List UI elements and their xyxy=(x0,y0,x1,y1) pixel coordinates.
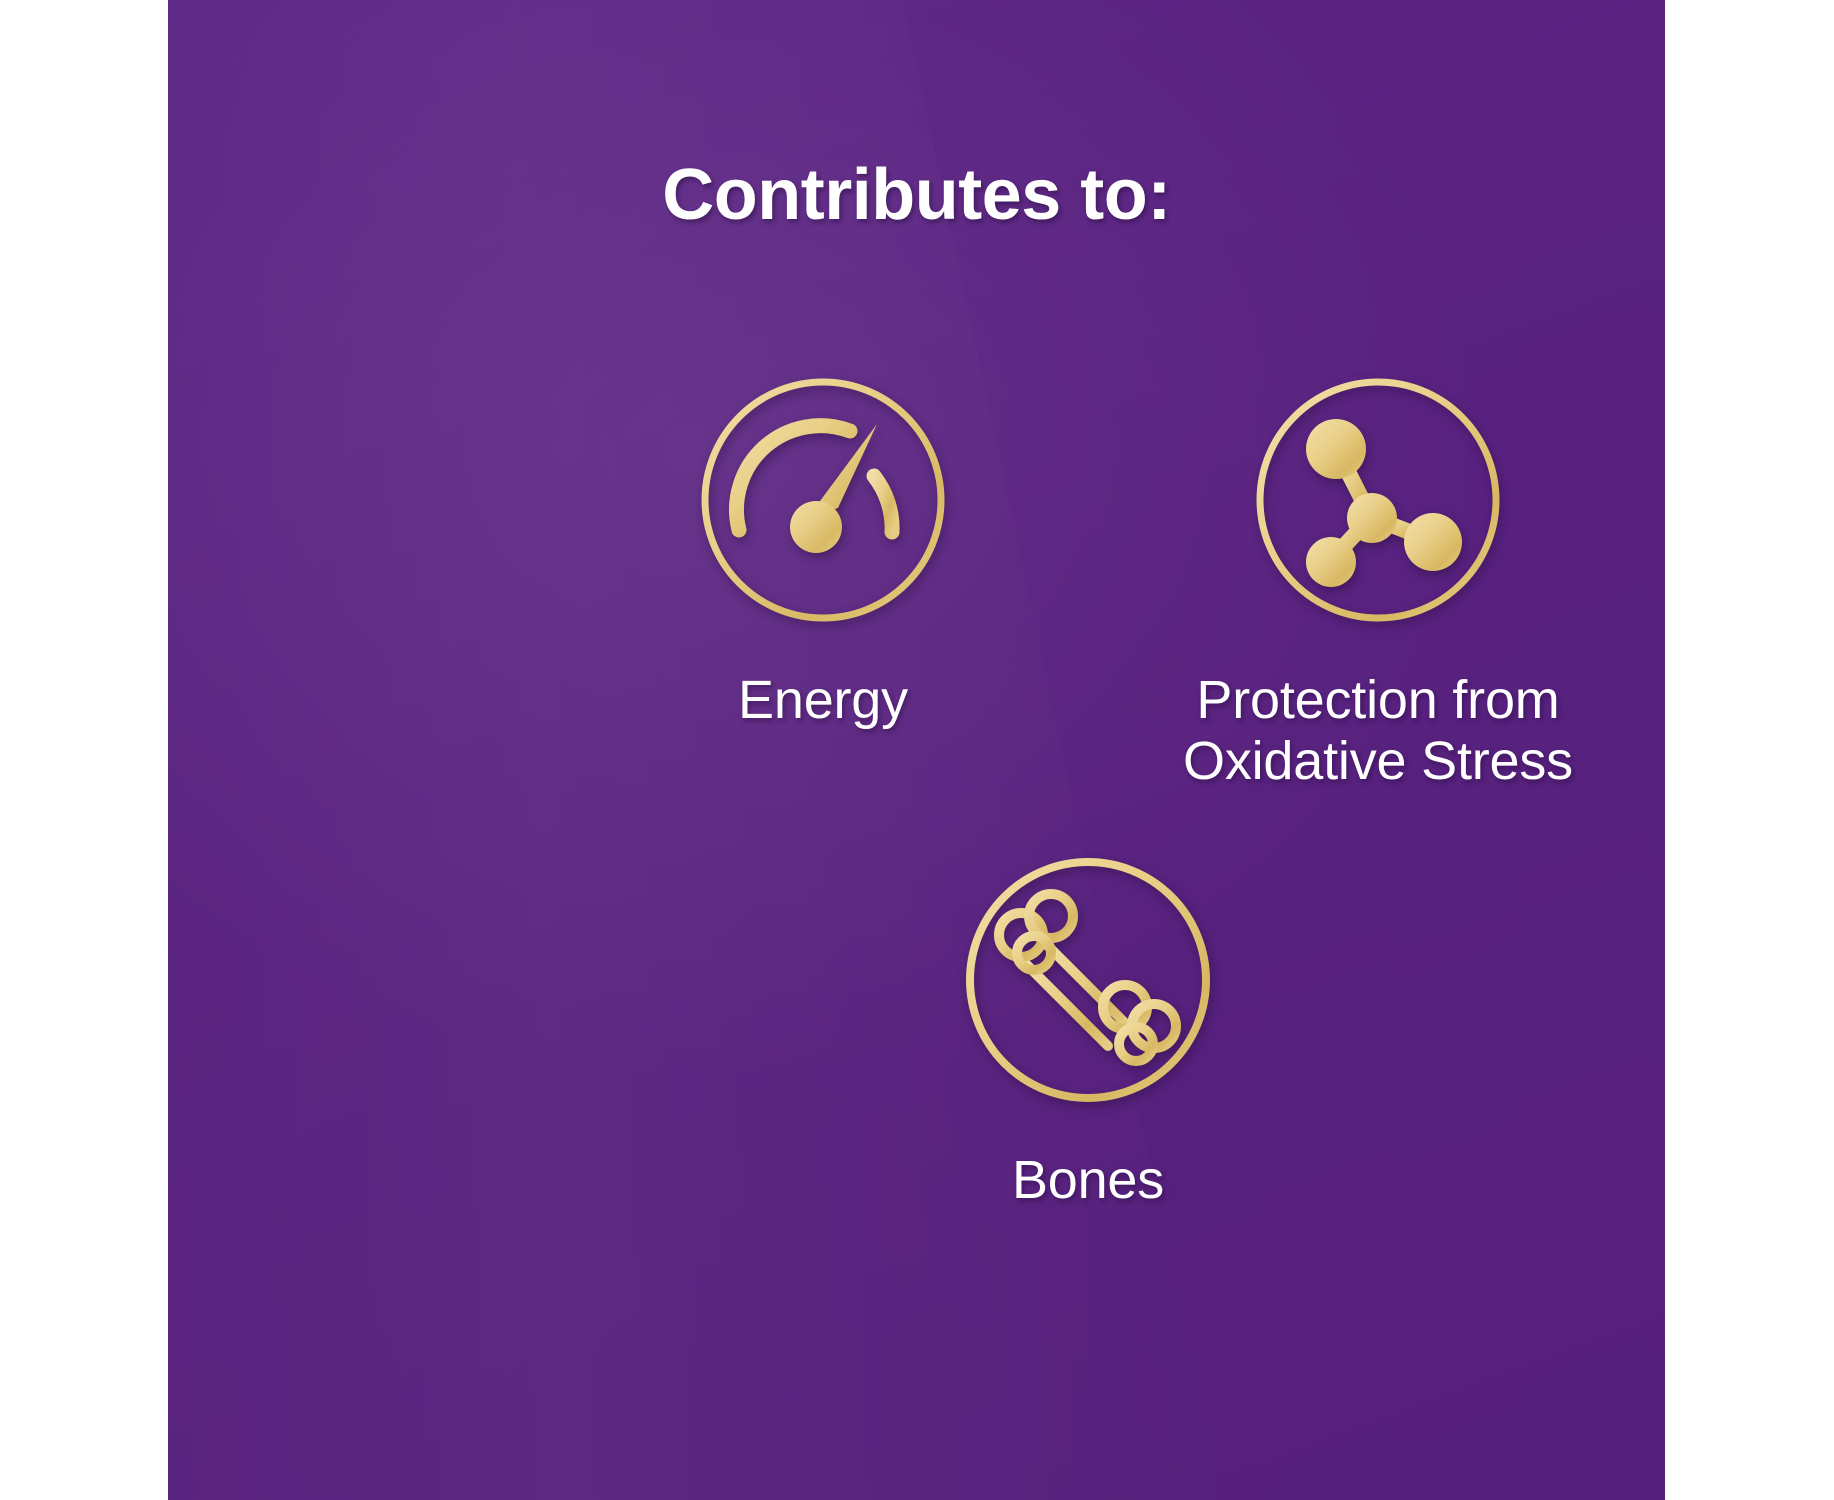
purple-panel: Contributes to: xyxy=(168,0,1665,1500)
benefit-label-bones: Bones xyxy=(863,1150,1313,1211)
speedometer-gauge-icon xyxy=(695,372,951,628)
benefit-item-oxidative-stress: Protection from Oxidative Stress xyxy=(1128,372,1628,792)
molecule-icon xyxy=(1250,372,1506,628)
benefit-item-bones: Bones xyxy=(863,852,1313,1211)
benefit-item-energy: Energy xyxy=(598,372,1048,731)
benefit-label-energy: Energy xyxy=(598,670,1048,731)
benefit-label-oxidative-stress: Protection from Oxidative Stress xyxy=(1128,670,1628,792)
bone-icon xyxy=(960,852,1216,1108)
page-title: Contributes to: xyxy=(168,158,1665,234)
product-benefits-graphic: Contributes to: xyxy=(0,0,1834,1500)
